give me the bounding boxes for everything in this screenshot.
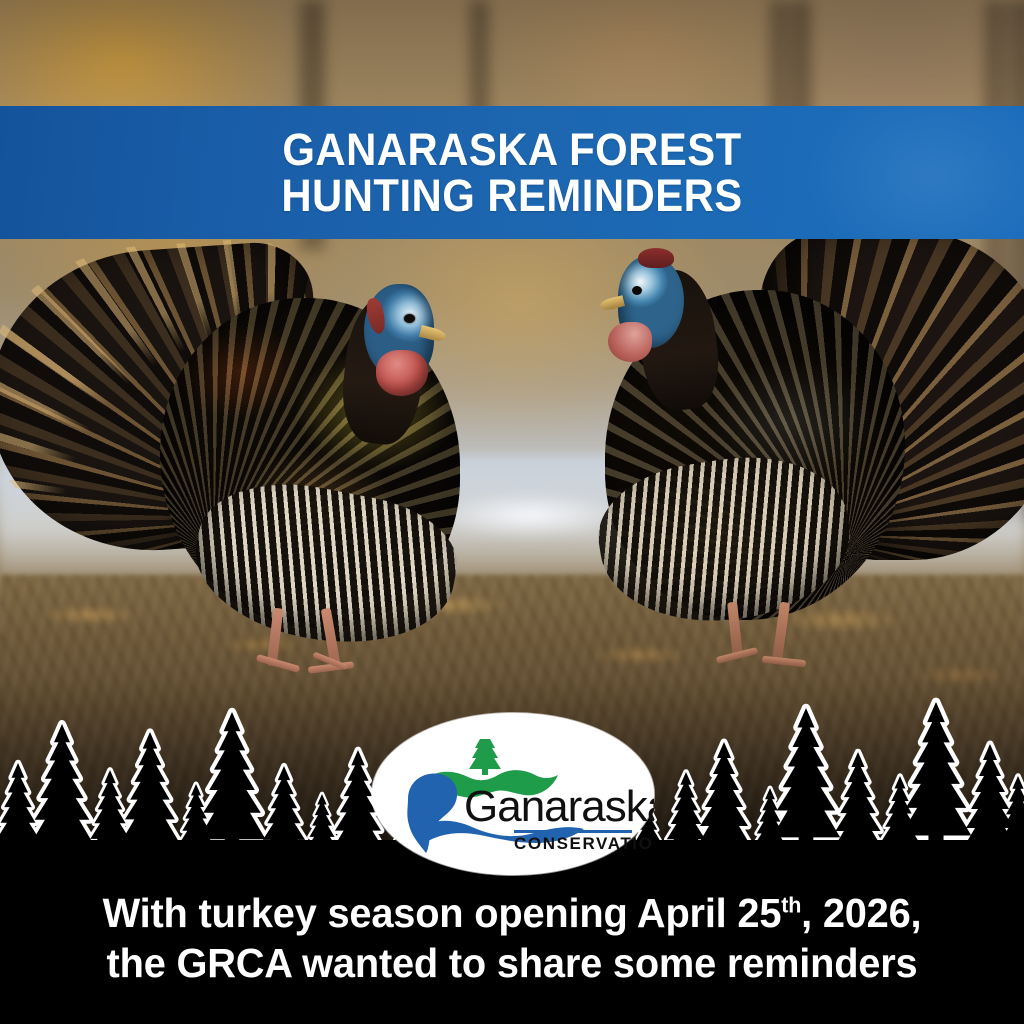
- logo-underline: [514, 830, 632, 833]
- header-banner: GANARASKA FOREST HUNTING REMINDERS: [0, 106, 1024, 239]
- logo-wordmark: Ganaraska: [464, 782, 654, 831]
- poster-canvas: Ganaraska CONSERVATION GANARASKA FOREST …: [0, 0, 1024, 1024]
- wild-turkey-right: [560, 230, 1024, 680]
- banner-title-line-2: HUNTING REMINDERS: [281, 173, 742, 219]
- turkey-crown: [638, 248, 674, 268]
- caption-ordinal-suffix: th: [781, 892, 801, 917]
- turkey-eye: [632, 286, 642, 295]
- ganaraska-conservation-logo: Ganaraska CONSERVATION: [372, 713, 654, 875]
- turkey-eye: [404, 314, 415, 323]
- page-title: GANARASKA FOREST HUNTING REMINDERS: [263, 127, 761, 219]
- turkey-wattle: [608, 322, 652, 362]
- caption-line-1: With turkey season opening April 25th, 2…: [15, 888, 1008, 938]
- wild-turkey-left: [0, 240, 490, 670]
- logo-subtext: CONSERVATION: [514, 834, 654, 853]
- caption-line-1-before: With turkey season opening April 25: [103, 890, 782, 936]
- caption-line-2: the GRCA wanted to share some reminders: [15, 938, 1008, 988]
- caption-line-1-after: , 2026,: [801, 890, 921, 936]
- caption-text: With turkey season opening April 25th, 2…: [15, 888, 1008, 988]
- banner-title-line-1: GANARASKA FOREST: [281, 127, 742, 173]
